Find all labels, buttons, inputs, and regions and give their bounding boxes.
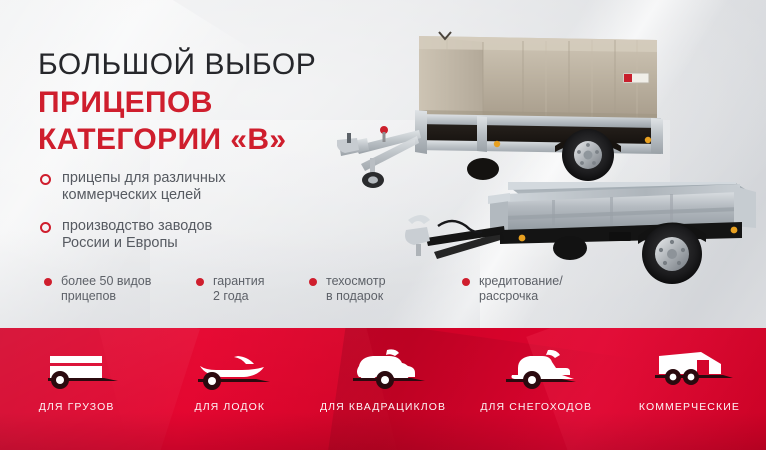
category-label: ДЛЯ ЛОДОК [194, 401, 265, 413]
list-item: техосмотр в подарок [309, 274, 462, 304]
category-item-snowmobile[interactable]: ДЛЯ СНЕГОХОДОВ [460, 328, 613, 450]
headline-line-2: ПРИЦЕПОВ [38, 86, 316, 119]
category-label: КОММЕРЧЕСКИЕ [639, 401, 740, 413]
ring-bullet-icon [40, 174, 51, 185]
feature-text: техосмотр в подарок [326, 274, 386, 304]
list-item: прицепы для различных коммерческих целей [40, 170, 226, 204]
cargo-trailer-icon [34, 346, 120, 392]
category-item-commercial[interactable]: КОММЕРЧЕСКИЕ [613, 328, 766, 450]
list-item: более 50 видов прицепов [44, 274, 196, 304]
headline-line-3: КАТЕГОРИИ «B» [38, 123, 316, 156]
category-item-boat[interactable]: ДЛЯ ЛОДОК [153, 328, 306, 450]
snowmobile-trailer-icon [488, 346, 584, 392]
list-item: производство заводов России и Европы [40, 218, 226, 252]
dot-bullet-icon [309, 278, 317, 286]
features-row: более 50 видов прицепов гарантия 2 года … [44, 274, 563, 304]
benefits-list: прицепы для различных коммерческих целей… [40, 170, 226, 266]
category-band: ДЛЯ ГРУЗОВ ДЛЯ ЛОДОК [0, 328, 766, 450]
feature-text: кредитование/ рассрочка [479, 274, 563, 304]
category-item-atv[interactable]: ДЛЯ КВАДРАЦИКЛОВ [306, 328, 459, 450]
feature-text: гарантия 2 года [213, 274, 265, 304]
covered-trailer-photo [337, 18, 757, 203]
boat-trailer-icon [184, 346, 276, 392]
promo-banner: БОЛЬШОЙ ВЫБОР ПРИЦЕПОВ КАТЕГОРИИ «B» при… [0, 0, 766, 450]
category-list: ДЛЯ ГРУЗОВ ДЛЯ ЛОДОК [0, 328, 766, 450]
feature-text: более 50 видов прицепов [61, 274, 151, 304]
ring-bullet-icon [40, 222, 51, 233]
benefit-text: прицепы для различных коммерческих целей [62, 170, 226, 204]
commercial-trailer-icon [641, 346, 737, 392]
category-label: ДЛЯ СНЕГОХОДОВ [480, 401, 592, 413]
dot-bullet-icon [462, 278, 470, 286]
dot-bullet-icon [44, 278, 52, 286]
dot-bullet-icon [196, 278, 204, 286]
list-item: гарантия 2 года [196, 274, 309, 304]
benefit-text: производство заводов России и Европы [62, 218, 212, 252]
headline-block: БОЛЬШОЙ ВЫБОР ПРИЦЕПОВ КАТЕГОРИИ «B» [38, 48, 316, 156]
category-label: ДЛЯ КВАДРАЦИКЛОВ [320, 401, 446, 413]
list-item: кредитование/ рассрочка [462, 274, 563, 304]
headline-line-1: БОЛЬШОЙ ВЫБОР [38, 48, 316, 82]
category-item-cargo[interactable]: ДЛЯ ГРУЗОВ [0, 328, 153, 450]
category-label: ДЛЯ ГРУЗОВ [39, 401, 115, 413]
atv-trailer-icon [335, 346, 431, 392]
